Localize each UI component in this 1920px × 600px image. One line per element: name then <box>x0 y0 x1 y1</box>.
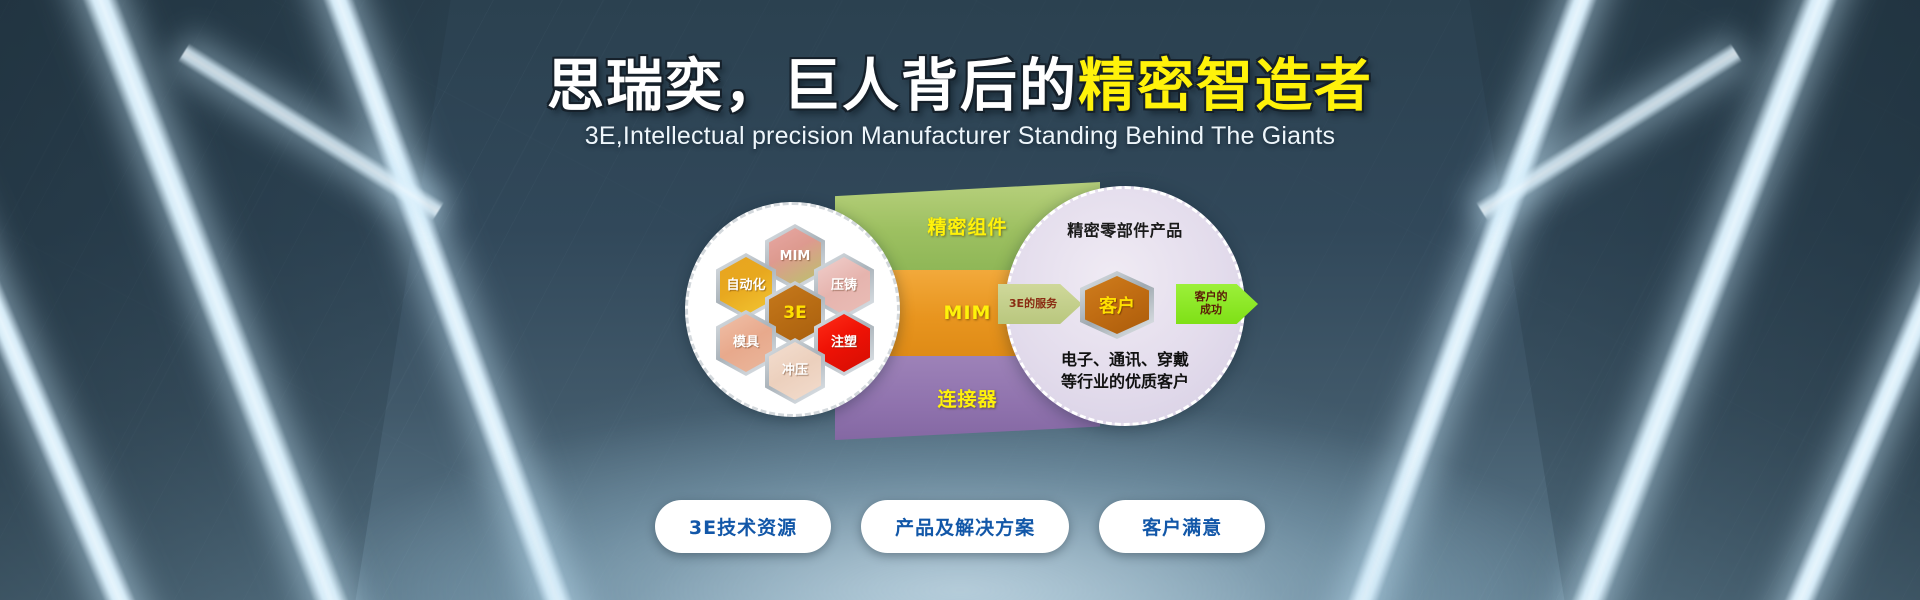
hexagon-customer[interactable]: 客户 <box>1080 271 1154 339</box>
customer-disc-title: 精密零部件产品 <box>1008 217 1242 241</box>
customer-disc-footer: 电子、通讯、穿戴 等行业的优质客户 <box>1014 349 1236 392</box>
hexagon-label-mim: MIM <box>780 250 811 264</box>
hexagon-label-die-casting: 压铸 <box>831 279 857 293</box>
customer-footer-line2: 等行业的优质客户 <box>1061 372 1189 391</box>
hexagon-label-3e: 3E <box>783 305 806 323</box>
pill-button-tech-resources[interactable]: 3E技术资源 <box>655 500 831 553</box>
hexagon-label-injection: 注塑 <box>831 336 857 350</box>
arrow-customer-success-line2: 成功 <box>1200 303 1222 316</box>
arrow-3e-service-label: 3E的服务 <box>1009 298 1057 311</box>
arrow-customer-success-line1: 客户的 <box>1195 290 1228 303</box>
headline-white-part: 思瑞奕，巨人背后的 <box>547 53 1078 119</box>
hexagon-cluster: MIM 自动化 压铸 3E 模具 注塑 冲压 <box>688 205 897 414</box>
pill-button-solutions[interactable]: 产品及解决方案 <box>861 500 1069 553</box>
pill-button-satisfaction[interactable]: 客户满意 <box>1099 500 1265 553</box>
cta-button-row: 3E技术资源 产品及解决方案 客户满意 <box>0 500 1920 553</box>
hexagon-label-customer: 客户 <box>1099 292 1135 318</box>
hero-banner: 思瑞奕，巨人背后的精密智造者 3E,Intellectual precision… <box>0 0 1920 600</box>
hexagon-label-automation: 自动化 <box>726 279 765 293</box>
headline-yellow-part: 精密智造者 <box>1078 53 1373 119</box>
hexagon-label-mold: 模具 <box>733 336 759 350</box>
customer-footer-line1: 电子、通讯、穿戴 <box>1061 350 1189 369</box>
hexagon-label-stamping: 冲压 <box>782 364 808 378</box>
arrow-customer-success[interactable]: 客户的 成功 <box>1176 284 1258 324</box>
customer-disc: 精密零部件产品 3E的服务 客户 客户的 成功 电子、通讯、穿戴 等行业的优质客… <box>1005 186 1245 426</box>
capability-disc: MIM 自动化 压铸 3E 模具 注塑 冲压 <box>685 202 900 417</box>
business-model-diagram: 精密组件 MIM 连接器 MIM 自动化 压铸 <box>685 202 1245 417</box>
arrow-3e-service[interactable]: 3E的服务 <box>998 284 1082 324</box>
page-subtitle: 3E,Intellectual precision Manufacturer S… <box>0 122 1920 151</box>
page-title: 思瑞奕，巨人背后的精密智造者 <box>0 58 1920 115</box>
